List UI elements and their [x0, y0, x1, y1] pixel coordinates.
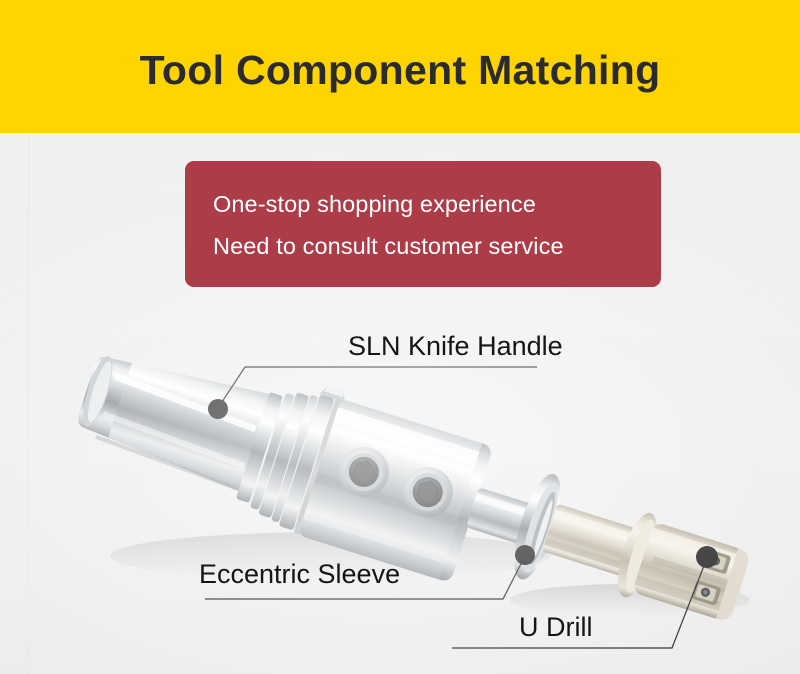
page-root: Tool Component Matching One-stop shoppin… [0, 0, 800, 674]
page-title: Tool Component Matching [0, 44, 800, 96]
annotation-label-u-drill: U Drill [519, 612, 593, 643]
header-banner: Tool Component Matching [0, 0, 800, 133]
promo-line-2: Need to consult customer service [213, 225, 661, 267]
annotation-label-sln-knife-handle: SLN Knife Handle [348, 331, 563, 362]
promo-line-1: One-stop shopping experience [213, 183, 661, 225]
annotation-label-eccentric-sleeve: Eccentric Sleeve [199, 559, 400, 590]
promo-callout: One-stop shopping experience Need to con… [185, 161, 661, 287]
